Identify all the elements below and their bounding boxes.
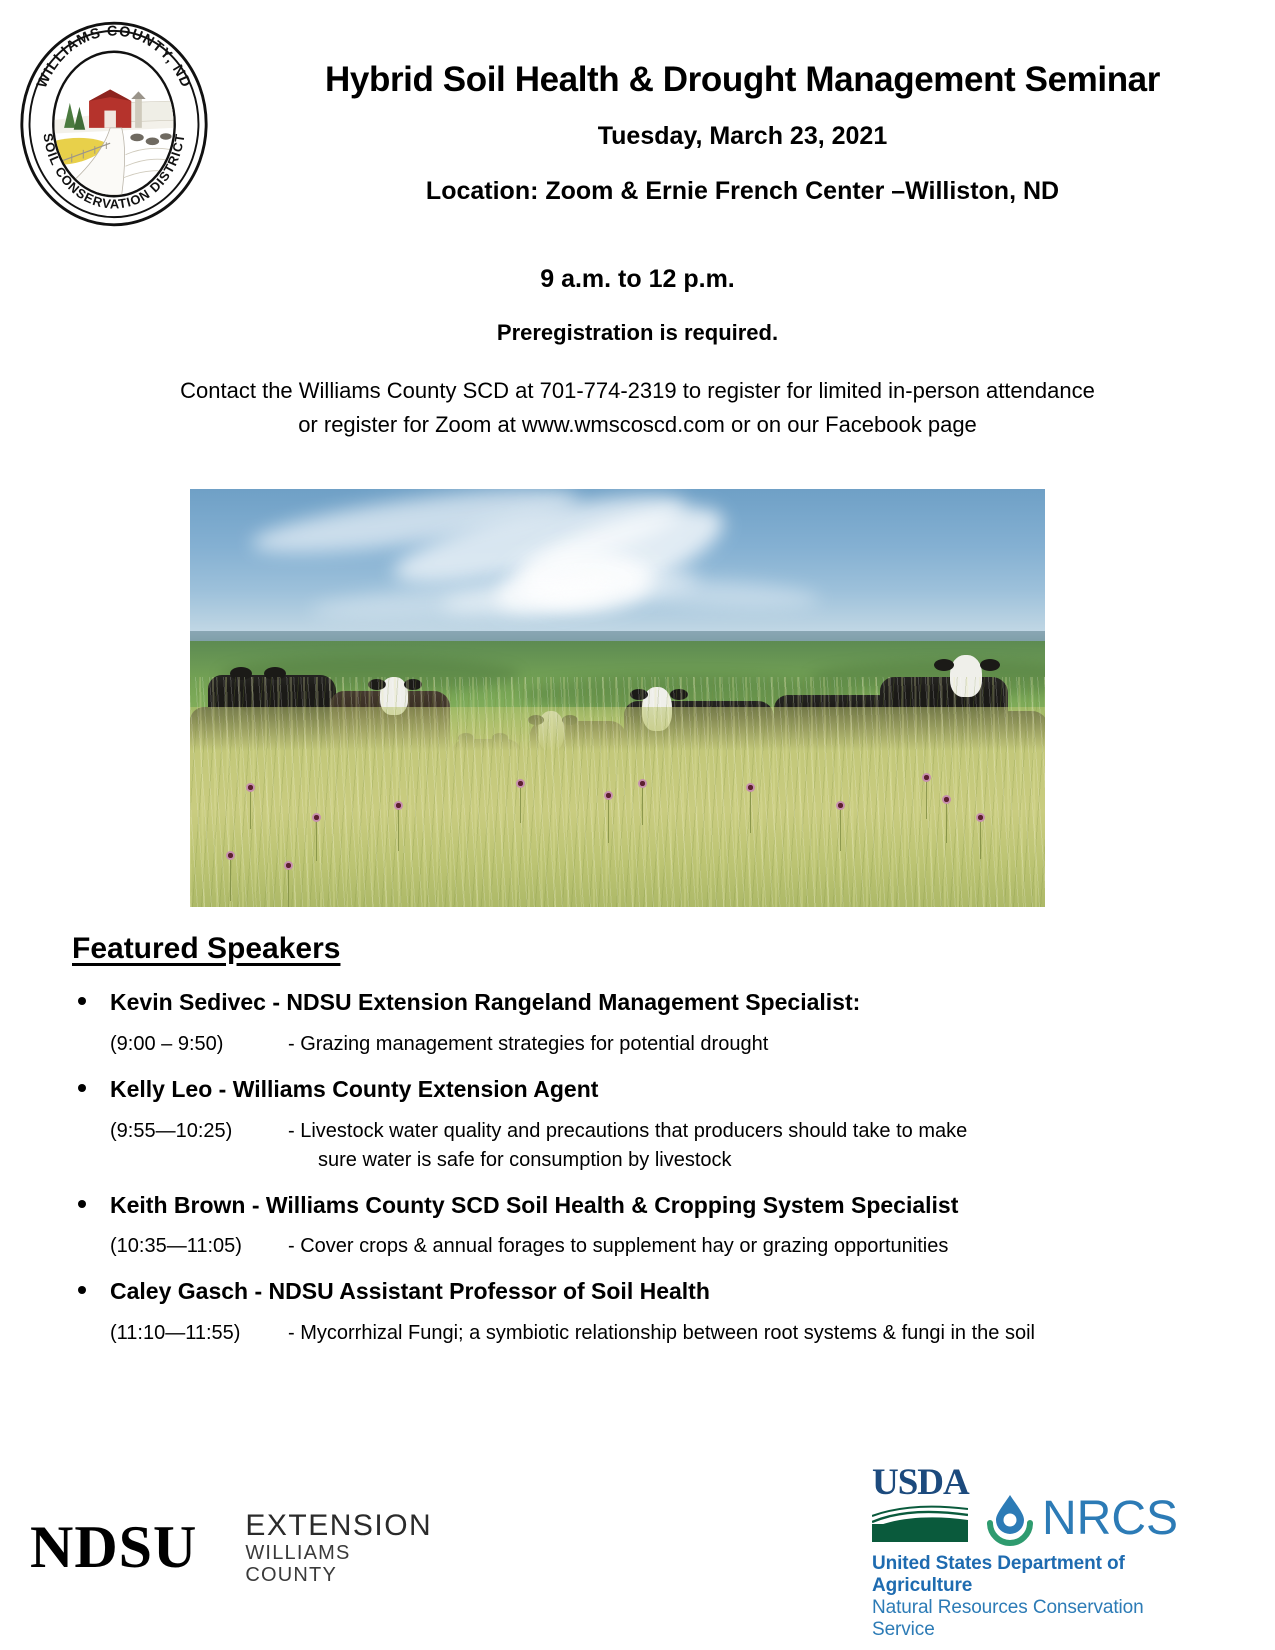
speaker-name: Kelly Leo [110,1076,212,1102]
coneflower [942,795,951,804]
cattle-pasture-photo [190,489,1045,907]
header-text-block: Hybrid Soil Health & Drought Management … [225,60,1260,232]
session-description-line-2: sure water is safe for consumption by li… [288,1146,1215,1175]
bullet-icon [78,1286,86,1294]
coneflower-stem [750,789,751,833]
list-item: Caley Gasch - NDSU Assistant Professor o… [0,1277,1275,1348]
grass-blade-texture [190,677,1045,907]
bullet-icon [78,1084,86,1092]
session-time: (9:00 – 9:50) [110,1030,288,1059]
coneflower [312,813,321,822]
speaker-name-title: Kevin Sedivec - NDSU Extension Rangeland… [0,988,1275,1017]
speaker-separator: - [272,989,280,1015]
usda-tagline-secondary: Natural Resources Conservation Service [872,1597,1192,1641]
session-time: (10:35—11:05) [110,1232,288,1261]
usda-nrcs-logo: USDA NRCS United States Department of Ag… [872,1465,1192,1641]
coneflower [516,779,525,788]
list-item: Kevin Sedivec - NDSU Extension Rangeland… [0,988,1275,1059]
speaker-separator: - [219,1076,227,1102]
ndsu-extension-text: EXTENSION WILLIAMS COUNTY [245,1509,432,1586]
speaker-session-detail: (9:55—10:25) - Livestock water quality a… [0,1117,1275,1175]
ndsu-extension-logo: NDSU EXTENSION WILLIAMS COUNTY [30,1492,390,1602]
coneflower [284,861,293,870]
extension-label: EXTENSION [245,1509,432,1542]
speaker-name: Kevin Sedivec [110,989,266,1015]
session-time: (11:10—11:55) [110,1319,288,1348]
list-item: Kelly Leo - Williams County Extension Ag… [0,1075,1275,1175]
preregistration-notice: Preregistration is required. [0,320,1275,346]
coneflower-stem [642,785,643,825]
speaker-name-title: Keith Brown - Williams County SCD Soil H… [0,1191,1275,1220]
bullet-icon [78,997,86,1005]
coneflower [246,783,255,792]
speaker-separator: - [252,1192,260,1218]
event-date: Tuesday, March 23, 2021 [225,122,1260,151]
session-description: - Grazing management strategies for pote… [288,1030,1275,1059]
speaker-session-detail: (11:10—11:55) - Mycorrhizal Fungi; a sym… [0,1319,1275,1348]
speaker-separator: - [254,1278,262,1304]
coneflower-stem [946,801,947,843]
coneflower-stem [840,807,841,851]
speaker-title: NDSU Assistant Professor of Soil Health [269,1278,710,1304]
contact-info: Contact the Williams County SCD at 701-7… [0,374,1275,442]
cow-ear [934,659,954,671]
coneflower [638,779,647,788]
williams-county-scd-seal-icon: WILLIAMS COUNTY, ND SOIL CONSERVATION DI… [18,20,210,228]
ndsu-wordmark: NDSU [30,1517,197,1577]
speaker-session-detail: (10:35—11:05) - Cover crops & annual for… [0,1232,1275,1261]
nrcs-wordmark: NRCS [1042,1497,1178,1540]
speaker-title: Williams County Extension Agent [233,1076,599,1102]
coneflower [604,791,613,800]
session-description: - Livestock water quality and precaution… [288,1117,1275,1175]
event-time: 9 a.m. to 12 p.m. [0,265,1275,294]
featured-speakers-heading: Featured Speakers [72,932,340,966]
coneflower-stem [230,857,231,901]
event-location: Location: Zoom & Ernie French Center –Wi… [225,177,1260,206]
session-description: - Mycorrhizal Fungi; a symbiotic relatio… [288,1319,1275,1348]
page-title: Hybrid Soil Health & Drought Management … [225,60,1260,100]
cow-ear [980,659,1000,671]
nrcs-water-droplet-icon [982,1489,1038,1547]
contact-line-1: Contact the Williams County SCD at 701-7… [0,374,1275,408]
usda-tagline-primary: United States Department of Agriculture [872,1553,1192,1597]
usda-mark: USDA [872,1465,968,1547]
speaker-name-title: Caley Gasch - NDSU Assistant Professor o… [0,1277,1275,1306]
coneflower-stem [520,785,521,823]
coneflower-stem [288,867,289,907]
usda-tagline: United States Department of Agriculture … [872,1553,1192,1641]
session-description-line-1: - Livestock water quality and precaution… [288,1120,967,1142]
coneflower [922,773,931,782]
coneflower [394,801,403,810]
speaker-name-title: Kelly Leo - Williams County Extension Ag… [0,1075,1275,1104]
speakers-list: Kevin Sedivec - NDSU Extension Rangeland… [0,988,1275,1364]
speaker-session-detail: (9:00 – 9:50) - Grazing management strat… [0,1030,1275,1059]
coneflower [976,813,985,822]
coneflower-stem [398,807,399,851]
contact-line-2: or register for Zoom at www.wmscoscd.com… [0,408,1275,442]
usda-wordmark: USDA [872,1465,968,1500]
speaker-title: NDSU Extension Rangeland Management Spec… [286,989,860,1015]
usda-nrcs-marks: USDA NRCS [872,1465,1192,1547]
speaker-name: Caley Gasch [110,1278,248,1304]
nrcs-mark: NRCS [982,1489,1178,1547]
coneflower [746,783,755,792]
coneflower-stem [926,779,927,819]
coneflower-stem [608,797,609,843]
county-label: WILLIAMS COUNTY [245,1542,432,1586]
coneflower [226,851,235,860]
coneflower-stem [980,819,981,859]
speaker-name: Keith Brown [110,1192,245,1218]
session-time: (9:55—10:25) [110,1117,288,1175]
coneflower-stem [316,819,317,861]
usda-field-icon [872,1502,968,1542]
coneflower [836,801,845,810]
list-item: Keith Brown - Williams County SCD Soil H… [0,1191,1275,1262]
speaker-title: Williams County SCD Soil Health & Croppi… [266,1192,958,1218]
bullet-icon [78,1200,86,1208]
coneflower-stem [250,789,251,829]
session-description: - Cover crops & annual forages to supple… [288,1232,1275,1261]
flyer-header: WILLIAMS COUNTY, ND SOIL CONSERVATION DI… [0,0,1275,300]
